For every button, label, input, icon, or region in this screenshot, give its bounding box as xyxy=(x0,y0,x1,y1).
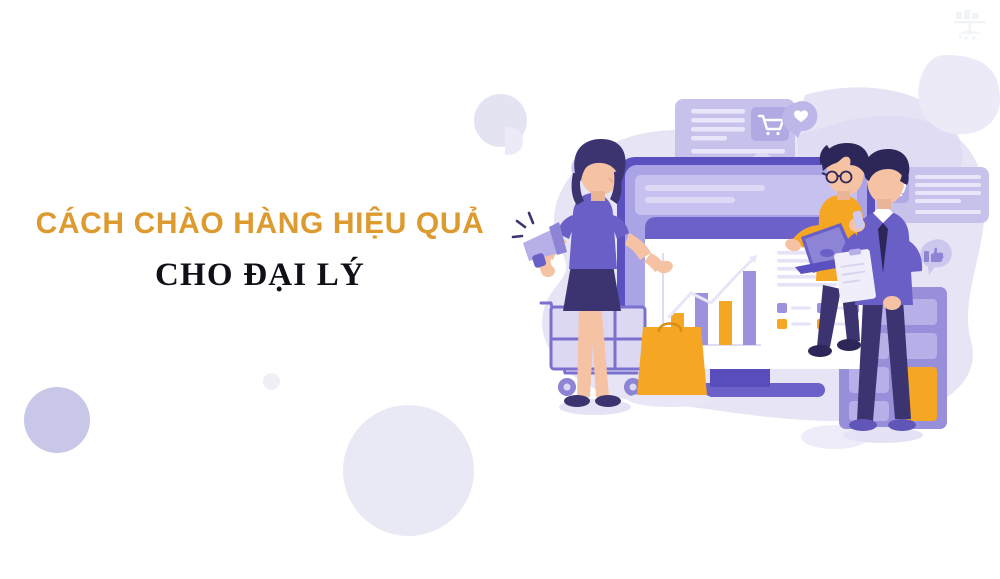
hero-illustration xyxy=(505,55,1000,455)
page-title-line-1: CÁCH CHÀO HÀNG HIỆU QUẢ xyxy=(0,206,520,241)
decorative-circle-small xyxy=(263,373,280,390)
page-title-line-2: CHO ĐẠI LÝ xyxy=(0,255,520,296)
headline-block: CÁCH CHÀO HÀNG HIỆU QUẢ CHO ĐẠI LÝ xyxy=(0,206,520,297)
poster-canvas: CÁCH CHÀO HÀNG HIỆU QUẢ CHO ĐẠI LÝ xyxy=(0,0,1000,579)
decorative-circle-large xyxy=(343,405,474,536)
clipboard xyxy=(834,248,877,303)
decorative-circle-left xyxy=(24,387,90,453)
watermark-logo-icon xyxy=(950,8,990,42)
